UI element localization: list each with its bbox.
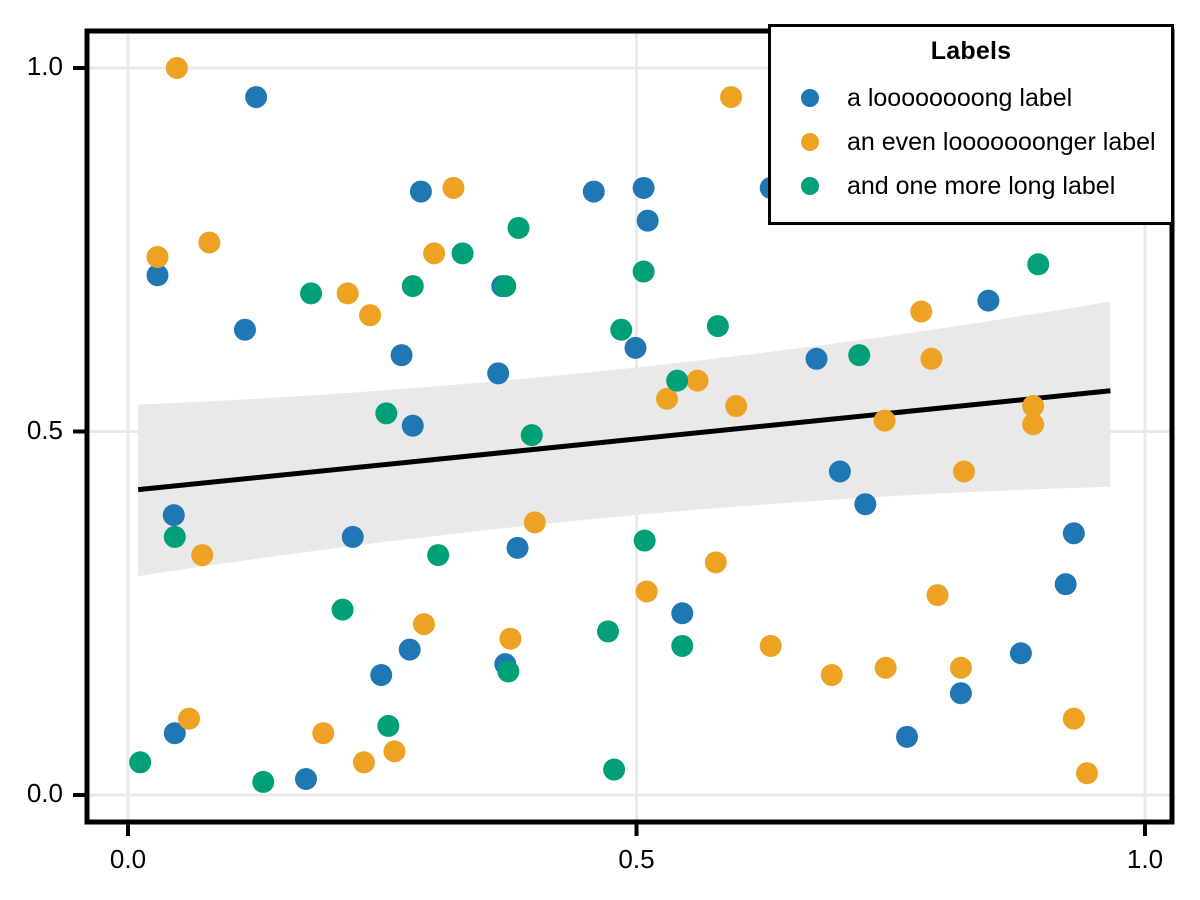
- data-point: [198, 231, 220, 253]
- data-point: [178, 708, 200, 730]
- legend-items: a loooooooong labelan even looooooonger …: [789, 76, 1153, 208]
- y-axis-tick-label: 1.0: [27, 51, 63, 82]
- data-point: [637, 210, 659, 232]
- data-point: [234, 319, 256, 341]
- data-point: [854, 493, 876, 515]
- legend-title: Labels: [789, 37, 1153, 66]
- data-point: [413, 613, 435, 635]
- legend-item-2[interactable]: an even looooooonger label: [789, 120, 1153, 164]
- legend-circle-marker: [801, 89, 819, 107]
- x-axis-tick-label: 0.0: [88, 844, 168, 875]
- data-point: [910, 301, 932, 323]
- data-point: [1063, 522, 1085, 544]
- data-point: [312, 722, 334, 744]
- data-point: [624, 337, 646, 359]
- legend-item-1[interactable]: a loooooooong label: [789, 76, 1153, 120]
- data-point: [191, 544, 213, 566]
- data-point: [163, 504, 185, 526]
- data-point: [707, 315, 729, 337]
- data-point: [383, 740, 405, 762]
- data-point: [1076, 762, 1098, 784]
- data-point: [129, 751, 151, 773]
- data-point: [410, 181, 432, 203]
- data-point: [300, 282, 322, 304]
- data-point: [507, 537, 529, 559]
- x-axis-tick-label: 1.0: [1105, 844, 1185, 875]
- data-point: [423, 242, 445, 264]
- data-point: [603, 759, 625, 781]
- data-point: [671, 635, 693, 657]
- data-point: [687, 370, 709, 392]
- data-point: [342, 526, 364, 548]
- legend-item-label: an even looooooonger label: [847, 128, 1156, 157]
- scatter-plot-figure: 0.00.51.00.00.51.0 Labels a loooooooong …: [0, 0, 1200, 900]
- x-axis-tick-label: 0.5: [597, 844, 677, 875]
- data-point: [402, 415, 424, 437]
- data-point: [166, 57, 188, 79]
- data-point: [950, 657, 972, 679]
- legend-item-label: a loooooooong label: [847, 84, 1072, 113]
- data-point: [442, 177, 464, 199]
- data-point: [829, 460, 851, 482]
- data-point: [487, 362, 509, 384]
- data-point: [524, 511, 546, 533]
- data-point: [671, 602, 693, 624]
- data-point: [633, 261, 655, 283]
- data-point: [760, 635, 782, 657]
- data-point: [920, 348, 942, 370]
- data-point: [499, 628, 521, 650]
- legend-circle-marker: [801, 177, 819, 195]
- data-point: [583, 181, 605, 203]
- data-point: [1063, 708, 1085, 730]
- data-point: [634, 530, 656, 552]
- data-point: [391, 344, 413, 366]
- data-point: [295, 768, 317, 790]
- data-point: [720, 86, 742, 108]
- data-point: [874, 410, 896, 432]
- data-point: [725, 395, 747, 417]
- data-point: [399, 639, 421, 661]
- data-point: [950, 682, 972, 704]
- data-point: [245, 86, 267, 108]
- data-point: [427, 544, 449, 566]
- data-point: [164, 526, 186, 548]
- data-point: [953, 460, 975, 482]
- data-point: [597, 620, 619, 642]
- data-point: [666, 370, 688, 392]
- y-axis-tick-label: 0.0: [27, 778, 63, 809]
- data-point: [1010, 642, 1032, 664]
- data-point: [1055, 573, 1077, 595]
- data-point: [452, 242, 474, 264]
- data-point: [252, 771, 274, 793]
- data-point: [337, 282, 359, 304]
- data-point: [1027, 253, 1049, 275]
- data-point: [610, 319, 632, 341]
- y-axis-tick-label: 0.5: [27, 415, 63, 446]
- data-point: [705, 551, 727, 573]
- data-point: [896, 726, 918, 748]
- data-point: [370, 664, 392, 686]
- data-point: [821, 664, 843, 686]
- data-point: [402, 275, 424, 297]
- data-point: [848, 344, 870, 366]
- data-point: [1022, 413, 1044, 435]
- data-point: [359, 304, 381, 326]
- legend-circle-marker: [801, 133, 819, 151]
- legend[interactable]: Labels a loooooooong labelan even looooo…: [768, 24, 1174, 225]
- data-point: [977, 290, 999, 312]
- data-point: [146, 246, 168, 268]
- legend-item-label: and one more long label: [847, 172, 1115, 201]
- data-point: [521, 424, 543, 446]
- data-point: [806, 348, 828, 370]
- data-point: [508, 217, 530, 239]
- data-point: [633, 177, 655, 199]
- data-point: [497, 660, 519, 682]
- data-point: [353, 751, 375, 773]
- legend-item-3[interactable]: and one more long label: [789, 164, 1153, 208]
- data-point: [636, 580, 658, 602]
- data-point: [332, 599, 354, 621]
- data-point: [377, 715, 399, 737]
- data-point: [375, 402, 397, 424]
- data-point: [875, 657, 897, 679]
- data-point: [927, 584, 949, 606]
- data-point: [494, 275, 516, 297]
